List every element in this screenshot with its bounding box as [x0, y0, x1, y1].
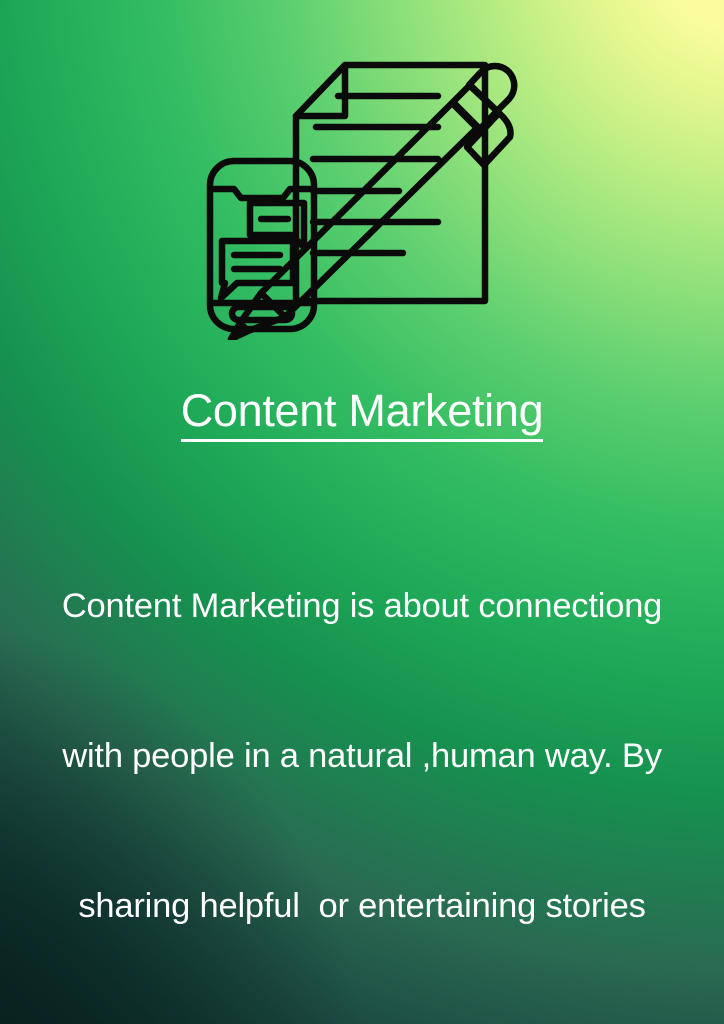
poster-content: Content Marketing Content Marketing is a…	[0, 0, 724, 1024]
body-paragraph: Content Marketing is about connectiong w…	[8, 481, 716, 1024]
body-line: Content Marketing is about connectiong	[8, 581, 716, 631]
page-title-text: Content Marketing	[181, 387, 544, 442]
body-line: sharing helpful or entertaining stories	[8, 881, 716, 931]
poster-background: Content Marketing Content Marketing is a…	[0, 0, 724, 1024]
content-marketing-illustration	[203, 55, 523, 340]
body-line: with people in a natural ,human way. By	[8, 731, 716, 781]
page-title: Content Marketing	[0, 387, 724, 442]
